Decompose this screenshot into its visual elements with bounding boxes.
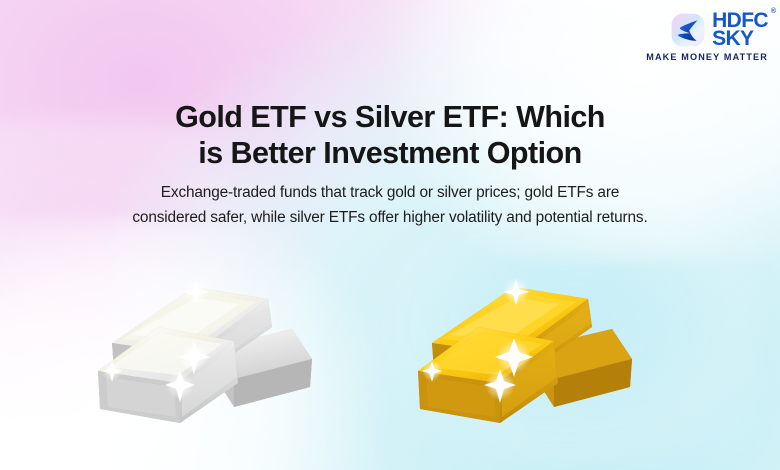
logo-row: HDFC SKY ® (671, 12, 768, 47)
logo-brand-line2: SKY (712, 30, 768, 48)
page-title: Gold ETF vs Silver ETF: Which is Better … (0, 100, 780, 171)
banner-canvas: HDFC SKY ® MAKE MONEY MATTER Gold ETF vs… (0, 0, 780, 470)
logo-wordmark: HDFC SKY ® (712, 12, 768, 47)
page-subtitle-line1: Exchange-traded funds that track gold or… (0, 181, 780, 206)
gold-bars-illustration (416, 251, 636, 434)
page-subtitle-line2: considered safer, while silver ETFs offe… (0, 206, 780, 231)
page-title-line2: is Better Investment Option (0, 136, 780, 171)
page-subtitle: Exchange-traded funds that track gold or… (0, 181, 780, 231)
registered-trademark-icon: ® (771, 9, 776, 15)
silver-bars-illustration (96, 251, 316, 434)
page-title-line1: Gold ETF vs Silver ETF: Which (0, 100, 780, 135)
hdfc-sky-swoosh-icon (671, 13, 705, 47)
hdfc-sky-logo[interactable]: HDFC SKY ® MAKE MONEY MATTER (646, 12, 768, 62)
logo-tagline: MAKE MONEY MATTER (646, 52, 768, 62)
